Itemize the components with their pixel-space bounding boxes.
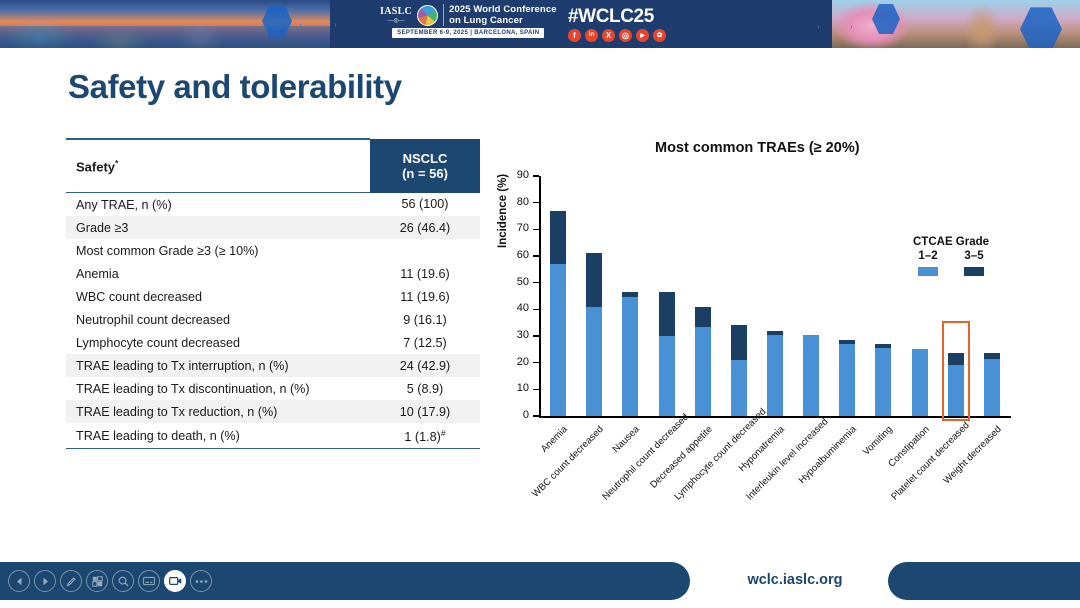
y-tick (533, 255, 539, 257)
x-twitter-icon[interactable]: X (602, 29, 615, 42)
row-label: TRAE leading to Tx reduction, n (%) (66, 400, 370, 423)
chart-plot-area (540, 176, 1010, 416)
chart-y-axis-label: Incidence (%) (497, 174, 509, 248)
chart-bar (622, 292, 638, 416)
more-options-icon[interactable] (190, 570, 212, 592)
page-title: Safety and tolerability (68, 68, 402, 106)
table-row: TRAE leading to death, n (%)1 (1.8)# (66, 423, 480, 449)
bar-segment-grade-1-2 (659, 336, 675, 416)
row-value: 10 (17.9) (370, 400, 480, 423)
traes-bar-chart: Most common TRAEs (≥ 20%) Incidence (%) … (495, 128, 1025, 548)
chart-bar (586, 253, 602, 416)
y-tick-label: 0 (499, 409, 529, 421)
y-tick (533, 362, 539, 364)
x-tick-label: Weight decreased (925, 424, 1003, 502)
chart-bar (695, 307, 711, 416)
y-tick (533, 202, 539, 204)
row-value: 56 (100) (370, 193, 480, 217)
chart-bar (984, 353, 1000, 416)
slide-content: Safety and tolerability Safety* NSCLC (n… (0, 48, 1080, 560)
y-tick (533, 335, 539, 337)
website-url[interactable]: wclc.iaslc.org (702, 572, 888, 588)
facebook-icon[interactable]: f (568, 29, 581, 42)
y-tick-label: 60 (499, 249, 529, 261)
y-tick (533, 229, 539, 231)
chart-bar (550, 211, 566, 416)
youtube-icon[interactable]: ▶ (636, 29, 649, 42)
bar-segment-grade-1-2 (803, 335, 819, 416)
bar-segment-grade-1-2 (984, 359, 1000, 416)
y-tick (533, 389, 539, 391)
iaslc-logo: IASLC —◎— 2025 World Conference on Lung … (380, 4, 557, 38)
player-toolbar: wclc.iaslc.org (0, 560, 1080, 608)
bar-segment-grade-1-2 (550, 264, 566, 416)
conference-line-1: 2025 World Conference (449, 4, 557, 15)
logo-divider (443, 4, 444, 26)
y-tick-label: 90 (499, 169, 529, 181)
bar-segment-grade-1-2 (622, 297, 638, 416)
table-row: Grade ≥326 (46.4) (66, 216, 480, 239)
bar-segment-grade-3-5 (695, 307, 711, 327)
chart-bar (839, 340, 855, 416)
chart-title: Most common TRAEs (≥ 20%) (655, 140, 860, 156)
chart-bar (803, 335, 819, 416)
iaslc-wordmark: IASLC —◎— (380, 7, 412, 24)
table-row: Lymphocyte count decreased7 (12.5) (66, 331, 480, 354)
row-label: Grade ≥3 (66, 216, 370, 239)
table-row: Most common Grade ≥3 (≥ 10%) (66, 239, 480, 262)
bar-segment-grade-1-2 (731, 360, 747, 416)
conference-hashtag: #WCLC25 (568, 6, 654, 28)
hexagon-outline-decoration (300, 5, 336, 45)
bar-segment-grade-3-5 (586, 253, 602, 306)
y-tick (533, 309, 539, 311)
nsclc-count: (n = 56) (370, 166, 480, 181)
toolbar-pill-right (888, 562, 1080, 600)
chart-bar (731, 325, 747, 416)
linkedin-icon[interactable]: in (585, 29, 598, 42)
bar-segment-grade-1-2 (875, 348, 891, 416)
y-tick-label: 10 (499, 382, 529, 394)
y-tick-label: 50 (499, 276, 529, 288)
bar-segment-grade-3-5 (731, 325, 747, 360)
y-tick-label: 80 (499, 196, 529, 208)
legend-label: 3–5 (964, 250, 983, 262)
row-value: 11 (19.6) (370, 262, 480, 285)
subtitles-icon[interactable] (138, 570, 160, 592)
camera-icon[interactable] (164, 570, 186, 592)
y-tick (533, 175, 539, 177)
row-label: TRAE leading to Tx discontinuation, n (%… (66, 377, 370, 400)
y-tick (533, 415, 539, 417)
table-row: TRAE leading to Tx interruption, n (%)24… (66, 354, 480, 377)
highlight-box-platelet-count-decreased (942, 321, 970, 421)
chart-x-axis (539, 416, 1011, 418)
y-tick (533, 282, 539, 284)
chart-legend: CTCAE Grade 1–2 3–5 (913, 236, 989, 276)
wechat-icon[interactable]: ✿ (653, 29, 666, 42)
slide-grid-icon[interactable] (86, 570, 108, 592)
row-value: 1 (1.8)# (370, 423, 480, 449)
zoom-icon[interactable] (112, 570, 134, 592)
next-slide-icon[interactable] (34, 570, 56, 592)
chart-bar (767, 331, 783, 416)
iaslc-abbr: IASLC (380, 7, 412, 17)
bar-segment-grade-3-5 (659, 292, 675, 336)
instagram-icon[interactable]: ◎ (619, 29, 632, 42)
legend-swatch-grade-3-5 (964, 267, 984, 276)
legend-label: 1–2 (918, 250, 937, 262)
row-value: 7 (12.5) (370, 331, 480, 354)
legend-item-grade-1-2: 1–2 (918, 250, 938, 276)
table-header-row: Safety* NSCLC (n = 56) (66, 139, 480, 193)
table-row: Anemia11 (19.6) (66, 262, 480, 285)
row-value: 9 (16.1) (370, 308, 480, 331)
table-row: Neutrophil count decreased9 (16.1) (66, 308, 480, 331)
bar-segment-grade-1-2 (586, 307, 602, 416)
bar-segment-grade-1-2 (839, 344, 855, 416)
conference-line-2: on Lung Cancer (449, 15, 557, 26)
row-value: 24 (42.9) (370, 354, 480, 377)
row-label: Neutrophil count decreased (66, 308, 370, 331)
row-label: TRAE leading to death, n (%) (66, 423, 370, 449)
hexagon-outline-decoration (818, 8, 852, 46)
table-row: Any TRAE, n (%)56 (100) (66, 193, 480, 217)
bar-segment-grade-3-5 (550, 211, 566, 264)
conference-name: 2025 World Conference on Lung Cancer (449, 4, 557, 26)
row-value: 5 (8.9) (370, 377, 480, 400)
row-value (370, 239, 480, 262)
legend-item-grade-3-5: 3–5 (964, 250, 984, 276)
previous-slide-icon[interactable] (8, 570, 30, 592)
table-header-safety: Safety* (66, 139, 370, 193)
row-label: Any TRAE, n (%) (66, 193, 370, 217)
y-tick-label: 70 (499, 222, 529, 234)
row-label: Most common Grade ≥3 (≥ 10%) (66, 239, 370, 262)
row-label: Lymphocyte count decreased (66, 331, 370, 354)
row-value: 11 (19.6) (370, 285, 480, 308)
safety-table: Safety* NSCLC (n = 56) Any TRAE, n (%)56… (66, 138, 480, 449)
y-tick-label: 30 (499, 329, 529, 341)
globe-icon (417, 5, 438, 26)
table-header-nsclc: NSCLC (n = 56) (370, 139, 480, 193)
row-label: WBC count decreased (66, 285, 370, 308)
legend-swatch-grade-1-2 (918, 267, 938, 276)
conference-banner: IASLC —◎— 2025 World Conference on Lung … (0, 0, 1080, 48)
bar-segment-grade-1-2 (767, 335, 783, 416)
legend-title: CTCAE Grade (913, 236, 989, 248)
toolbar-icons (8, 570, 212, 592)
bar-segment-grade-1-2 (912, 349, 928, 416)
social-icons: f in X ◎ ▶ ✿ (568, 29, 666, 42)
table-row: TRAE leading to Tx discontinuation, n (%… (66, 377, 480, 400)
pen-icon[interactable] (60, 570, 82, 592)
y-tick-label: 20 (499, 356, 529, 368)
bar-segment-grade-1-2 (695, 327, 711, 416)
table-row: TRAE leading to Tx reduction, n (%)10 (1… (66, 400, 480, 423)
conference-date-location: SEPTEMBER 6-9, 2025 | BARCELONA, SPAIN (392, 28, 544, 38)
chart-bar (659, 292, 675, 416)
chart-bar (912, 349, 928, 416)
row-label: Anemia (66, 262, 370, 285)
table-body: Any TRAE, n (%)56 (100) Grade ≥326 (46.4… (66, 193, 480, 449)
chart-bar (875, 344, 891, 416)
table-row: WBC count decreased11 (19.6) (66, 285, 480, 308)
y-tick-label: 40 (499, 302, 529, 314)
row-label: TRAE leading to Tx interruption, n (%) (66, 354, 370, 377)
iaslc-rule: —◎— (380, 18, 412, 24)
row-value: 26 (46.4) (370, 216, 480, 239)
nsclc-label: NSCLC (370, 151, 480, 166)
